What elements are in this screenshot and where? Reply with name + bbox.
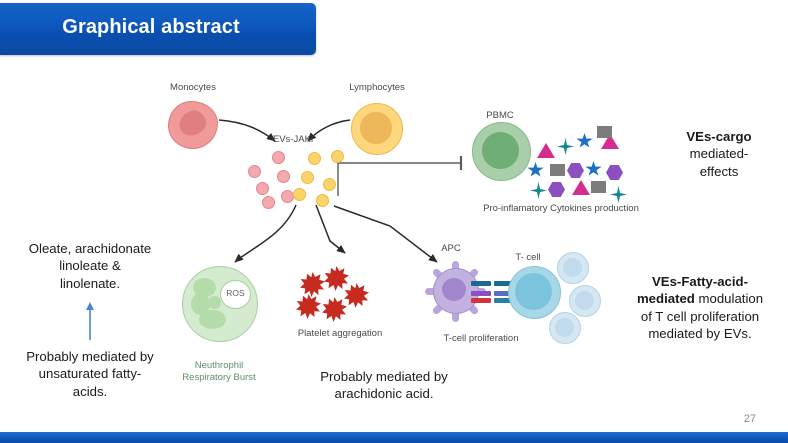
fatty-acids-line1: Oleate, arachidonate bbox=[29, 241, 151, 256]
monocytes-label: Monocytes bbox=[158, 82, 228, 94]
unsaturated-line3: acids. bbox=[73, 384, 107, 399]
ev-particle bbox=[301, 171, 314, 184]
neutrophil-cell: ROS bbox=[182, 266, 256, 340]
t-cell-daughter bbox=[549, 312, 581, 344]
platelet bbox=[296, 294, 321, 319]
ves-fatty-line4: mediated by EVs. bbox=[648, 326, 751, 341]
ev-particle bbox=[256, 182, 269, 195]
ves-cargo-line2: mediated- bbox=[690, 146, 749, 161]
ves-fatty-bold2: mediated bbox=[637, 291, 695, 306]
cytokine-square bbox=[597, 126, 612, 138]
apc-label: APC bbox=[434, 243, 468, 255]
t-cell-proliferation-label: T-cell proliferation bbox=[424, 333, 538, 345]
bottom-accent-bar bbox=[0, 432, 788, 443]
cytokine-square bbox=[591, 181, 606, 193]
apc-cell bbox=[424, 259, 486, 321]
fatty-acids-line2: linoleate & bbox=[59, 258, 121, 273]
lymphocyte-cell bbox=[351, 103, 401, 153]
cytokine-triangle bbox=[537, 143, 555, 158]
unsaturated-annotation: Probably mediated by unsaturated fatty- … bbox=[6, 348, 174, 400]
cytokine-star bbox=[576, 133, 593, 149]
t-cell-daughter bbox=[557, 252, 589, 284]
t-cell-daughter bbox=[569, 285, 601, 317]
neutrophil-label-line2: Respiratory Burst bbox=[172, 372, 266, 384]
cytokine-hexagon bbox=[567, 163, 584, 178]
t-cell-daughter-nucleus bbox=[555, 318, 574, 337]
ev-particle bbox=[316, 194, 329, 207]
ev-particle bbox=[308, 152, 321, 165]
platelet bbox=[344, 283, 369, 308]
ves-fatty-acid-annotation: VEs-Fatty-acid- mediated modulation of T… bbox=[614, 273, 786, 343]
ves-cargo-annotation: VEs-cargo mediated- effects bbox=[657, 128, 781, 180]
neutrophil-label-line1: Neuthrophil bbox=[179, 360, 259, 372]
receptor-bar bbox=[471, 291, 491, 296]
platelet bbox=[324, 266, 349, 291]
fatty-acids-annotation: Oleate, arachidonate linoleate & linolen… bbox=[8, 240, 172, 292]
ves-cargo-bold: VEs-cargo bbox=[686, 129, 751, 144]
evs-jaki-label: EVs-JAKi bbox=[264, 134, 322, 146]
cytokine-sparkle bbox=[610, 186, 627, 203]
ev-particle bbox=[262, 196, 275, 209]
unsaturated-line2: unsaturated fatty- bbox=[39, 366, 142, 381]
page-title: Graphical abstract bbox=[0, 16, 302, 39]
receptor-bar bbox=[471, 281, 491, 286]
title-banner: Graphical abstract bbox=[0, 3, 316, 55]
platelet bbox=[322, 297, 347, 322]
ves-fatty-rest2: modulation bbox=[695, 291, 763, 306]
t-cell-daughter-nucleus bbox=[563, 258, 582, 277]
lymphocyte-nucleus bbox=[360, 112, 392, 144]
ev-particle bbox=[272, 151, 285, 164]
t-cell-daughter-nucleus bbox=[575, 291, 594, 310]
pbmc-label: PBMC bbox=[476, 110, 524, 122]
cytokine-hexagon bbox=[548, 182, 565, 197]
cytokine-star bbox=[527, 162, 544, 178]
monocyte-cell bbox=[168, 101, 216, 147]
apc-nucleus bbox=[442, 278, 466, 301]
blue-up-arrow-icon bbox=[84, 300, 96, 340]
neutrophil-nucleus-lobe bbox=[199, 310, 226, 329]
ev-particle bbox=[277, 170, 290, 183]
arachidonic-line2: arachidonic acid. bbox=[335, 386, 434, 401]
arachidonic-annotation: Probably mediated by arachidonic acid. bbox=[296, 368, 472, 403]
ev-particle bbox=[248, 165, 261, 178]
ros-vacuole: ROS bbox=[220, 280, 251, 309]
ev-particle bbox=[281, 190, 294, 203]
platelet-label: Platelet aggregation bbox=[288, 328, 392, 340]
ves-fatty-bold1: VEs-Fatty-acid- bbox=[652, 274, 748, 289]
cytokine-triangle bbox=[572, 180, 590, 195]
neutrophil-nucleus-lobe bbox=[208, 296, 221, 309]
cytokine-square bbox=[550, 164, 565, 176]
arachidonic-line1: Probably mediated by bbox=[320, 369, 448, 384]
ves-cargo-line3: effects bbox=[700, 164, 739, 179]
cytokines-caption: Pro-inflamatory Cytokines production bbox=[473, 203, 649, 215]
unsaturated-line1: Probably mediated by bbox=[26, 349, 154, 364]
cytokine-star bbox=[585, 161, 602, 177]
ves-fatty-line3: of T cell proliferation bbox=[641, 309, 759, 324]
fatty-acids-line3: linolenate. bbox=[60, 276, 120, 291]
platelet bbox=[300, 272, 325, 297]
receptor-bar bbox=[471, 298, 491, 303]
pbmc-nucleus bbox=[482, 132, 519, 169]
lymphocytes-label: Lymphocytes bbox=[340, 82, 414, 94]
t-cell bbox=[508, 266, 559, 317]
t-cell-label: T- cell bbox=[505, 252, 551, 264]
ev-particle bbox=[331, 150, 344, 163]
pbmc-cell bbox=[472, 122, 529, 179]
cytokine-hexagon bbox=[606, 165, 623, 180]
cytokine-sparkle bbox=[557, 138, 574, 155]
t-cell-nucleus bbox=[515, 273, 552, 310]
ev-particle bbox=[323, 178, 336, 191]
ev-particle bbox=[293, 188, 306, 201]
cytokine-sparkle bbox=[530, 182, 547, 199]
slide-canvas: Graphical abstract Monocytes Lymphocytes bbox=[0, 0, 788, 443]
ros-label: ROS bbox=[221, 288, 250, 298]
page-number: 27 bbox=[744, 413, 756, 425]
